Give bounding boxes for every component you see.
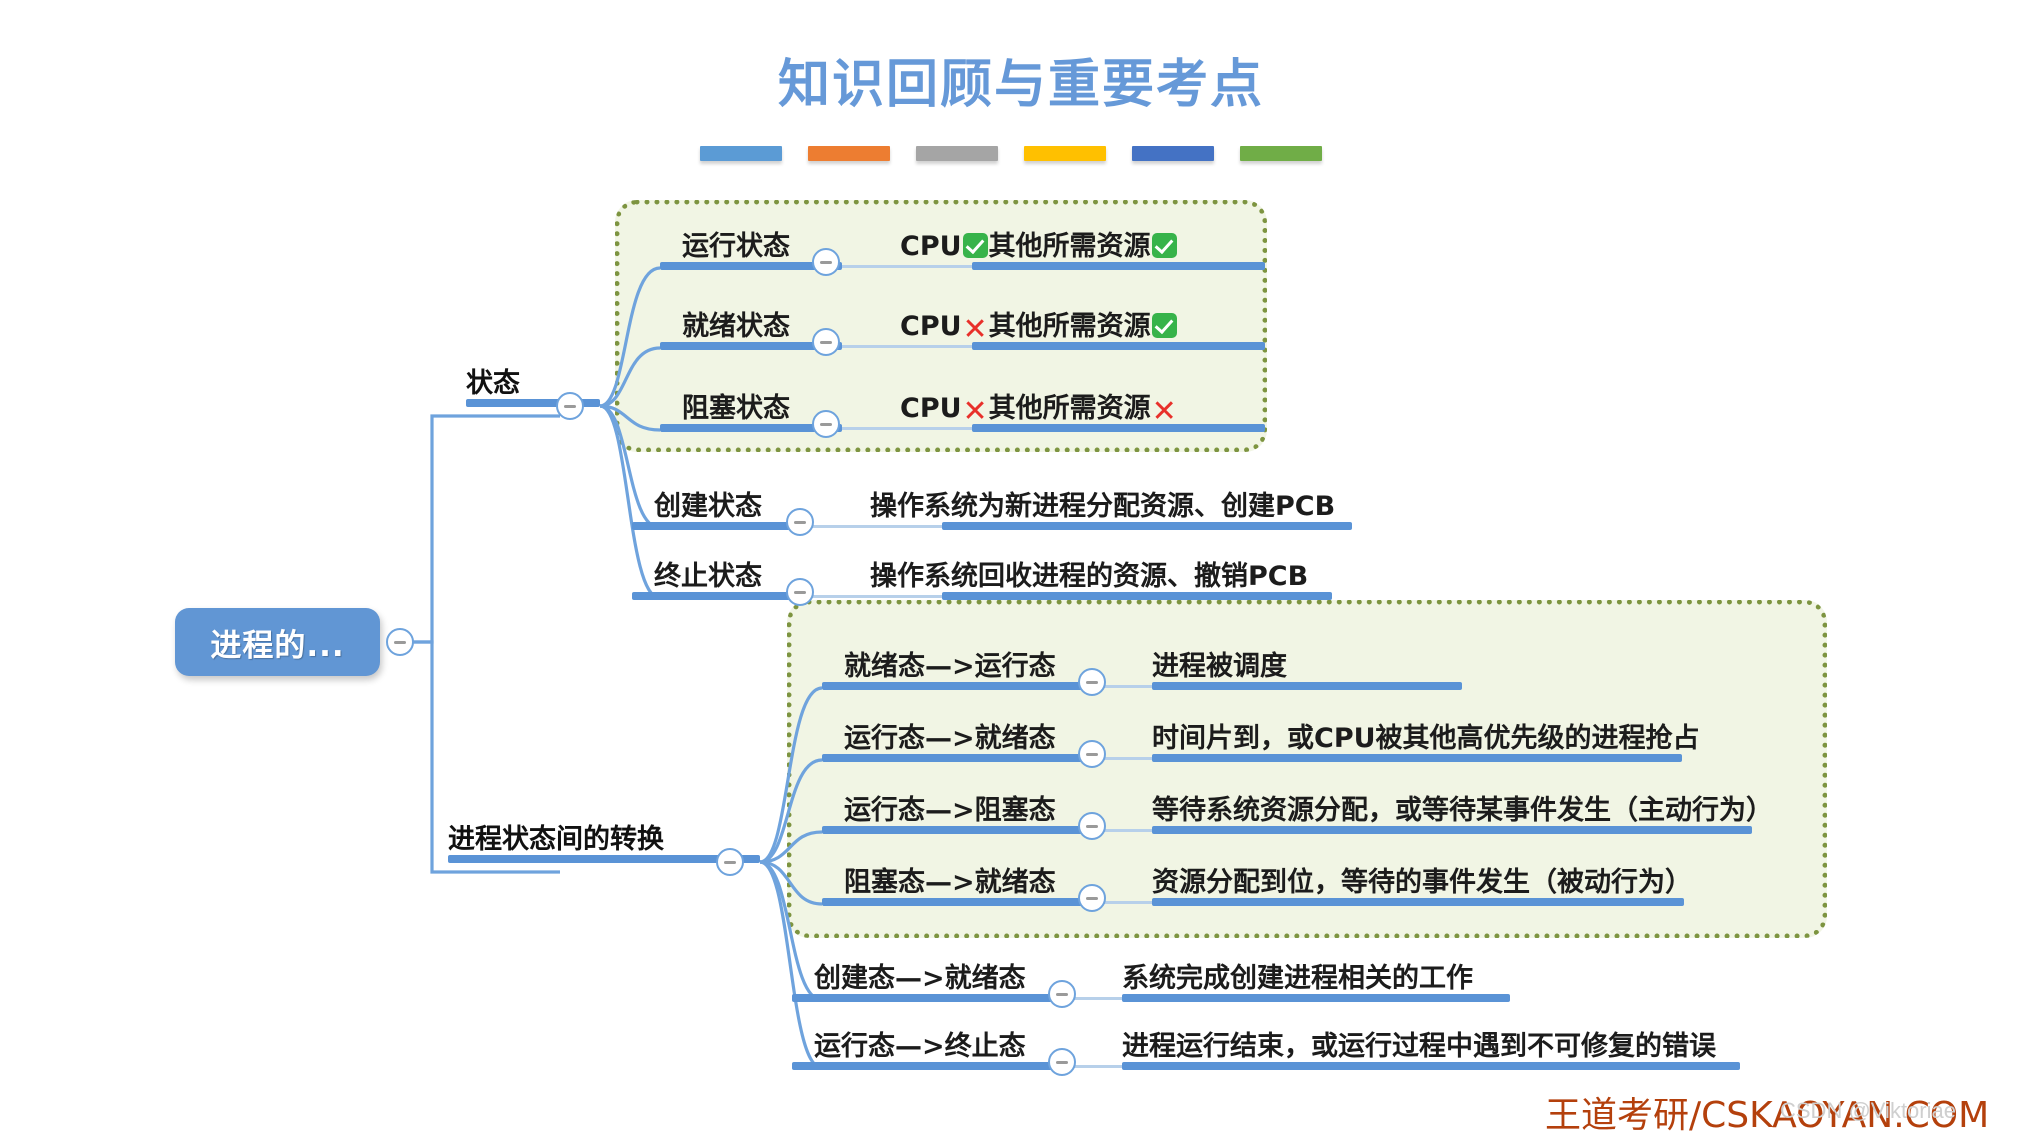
leaf-row-running-state[interactable]: 运行状态 CPU其他所需资源: [660, 222, 1265, 270]
resources-label: 其他所需资源: [989, 311, 1151, 342]
leaf-desc-ready-to-running: 进程被调度: [1152, 644, 1287, 683]
leaf-toggle-ready-state[interactable]: [812, 328, 840, 356]
leaf-row-created-state[interactable]: 创建状态 操作系统为新进程分配资源、创建PCB: [632, 482, 1352, 530]
branch-label-states: 状态: [466, 361, 520, 400]
leaf-toggle-running-to-blocked[interactable]: [1078, 812, 1106, 840]
leaf-row-running-to-blocked[interactable]: 运行态—>阻塞态 等待系统资源分配，或等待某事件发生（主动行为）: [822, 786, 1752, 834]
leaf-toggle-blocked-state[interactable]: [812, 410, 840, 438]
cpu-label: CPU: [900, 393, 962, 424]
leaf-title-blocked-state: 阻塞状态: [682, 386, 790, 425]
leaf-title-ready-to-running: 就绪态—>运行态: [844, 644, 1056, 683]
leaf-desc-running-to-ready: 时间片到，或CPU被其他高优先级的进程抢占: [1152, 716, 1700, 755]
leaf-desc-ready-state: CPU✕其他所需资源: [900, 304, 1178, 343]
leaf-desc-blocked-state: CPU✕其他所需资源✕: [900, 386, 1178, 425]
leaf-desc-running-to-blocked: 等待系统资源分配，或等待某事件发生（主动行为）: [1152, 788, 1773, 827]
leaf-toggle-created-to-ready[interactable]: [1048, 980, 1076, 1008]
leaf-row-blocked-state[interactable]: 阻塞状态 CPU✕其他所需资源✕: [660, 384, 1265, 432]
check-icon-cpu: [963, 233, 988, 258]
root-node-label: 进程的...: [210, 620, 344, 665]
mindmap-canvas: 知识回顾与重要考点 进程的... 状态: [0, 0, 2042, 1140]
leaf-desc-terminated-state: 操作系统回收进程的资源、撤销PCB: [870, 554, 1308, 593]
leaf-desc-running-to-terminated: 进程运行结束，或运行过程中遇到不可修复的错误: [1122, 1024, 1716, 1063]
branch-states-collapse-toggle-icon[interactable]: [556, 392, 584, 420]
leaf-row-ready-state[interactable]: 就绪状态 CPU✕其他所需资源: [660, 302, 1265, 350]
leaf-title-blocked-to-ready: 阻塞态—>就绪态: [844, 860, 1056, 899]
cpu-label: CPU: [900, 231, 962, 262]
leaf-title-terminated-state: 终止状态: [654, 554, 762, 593]
leaf-title-created-to-ready: 创建态—>就绪态: [814, 956, 1026, 995]
watermark-secondary: CSDN @Viktoriae: [1780, 1098, 1956, 1124]
leaf-desc-running-state: CPU其他所需资源: [900, 224, 1178, 263]
leaf-row-terminated-state[interactable]: 终止状态 操作系统回收进程的资源、撤销PCB: [632, 552, 1332, 600]
leaf-toggle-running-to-ready[interactable]: [1078, 740, 1106, 768]
leaf-desc-blocked-to-ready: 资源分配到位，等待的事件发生（被动行为）: [1152, 860, 1692, 899]
check-icon-resources: [1152, 313, 1177, 338]
leaf-desc-created-to-ready: 系统完成创建进程相关的工作: [1122, 956, 1473, 995]
resources-label: 其他所需资源: [989, 393, 1151, 424]
leaf-title-ready-state: 就绪状态: [682, 304, 790, 343]
leaf-title-running-state: 运行状态: [682, 224, 790, 263]
check-icon-resources: [1152, 233, 1177, 258]
leaf-title-created-state: 创建状态: [654, 484, 762, 523]
branch-label-transitions: 进程状态间的转换: [448, 817, 664, 856]
leaf-toggle-ready-to-running[interactable]: [1078, 668, 1106, 696]
leaf-title-running-to-terminated: 运行态—>终止态: [814, 1024, 1026, 1063]
leaf-row-created-to-ready[interactable]: 创建态—>就绪态 系统完成创建进程相关的工作: [792, 954, 1510, 1002]
cpu-label: CPU: [900, 311, 962, 342]
leaf-toggle-terminated-state[interactable]: [786, 578, 814, 606]
leaf-title-running-to-ready: 运行态—>就绪态: [844, 716, 1056, 755]
leaf-title-running-to-blocked: 运行态—>阻塞态: [844, 788, 1056, 827]
leaf-desc-created-state: 操作系统为新进程分配资源、创建PCB: [870, 484, 1335, 523]
leaf-row-running-to-ready[interactable]: 运行态—>就绪态 时间片到，或CPU被其他高优先级的进程抢占: [822, 714, 1682, 762]
leaf-toggle-running-state[interactable]: [812, 248, 840, 276]
leaf-row-ready-to-running[interactable]: 就绪态—>运行态 进程被调度: [822, 642, 1462, 690]
leaf-toggle-blocked-to-ready[interactable]: [1078, 884, 1106, 912]
root-collapse-toggle-icon[interactable]: [386, 628, 414, 656]
branch-node-transitions[interactable]: 进程状态间的转换: [448, 811, 760, 863]
root-node[interactable]: 进程的...: [175, 608, 380, 676]
leaf-row-running-to-terminated[interactable]: 运行态—>终止态 进程运行结束，或运行过程中遇到不可修复的错误: [792, 1022, 1740, 1070]
leaf-toggle-created-state[interactable]: [786, 508, 814, 536]
leaf-row-blocked-to-ready[interactable]: 阻塞态—>就绪态 资源分配到位，等待的事件发生（被动行为）: [822, 858, 1684, 906]
branch-transitions-collapse-toggle-icon[interactable]: [716, 848, 744, 876]
resources-label: 其他所需资源: [989, 231, 1151, 262]
leaf-toggle-running-to-terminated[interactable]: [1048, 1048, 1076, 1076]
